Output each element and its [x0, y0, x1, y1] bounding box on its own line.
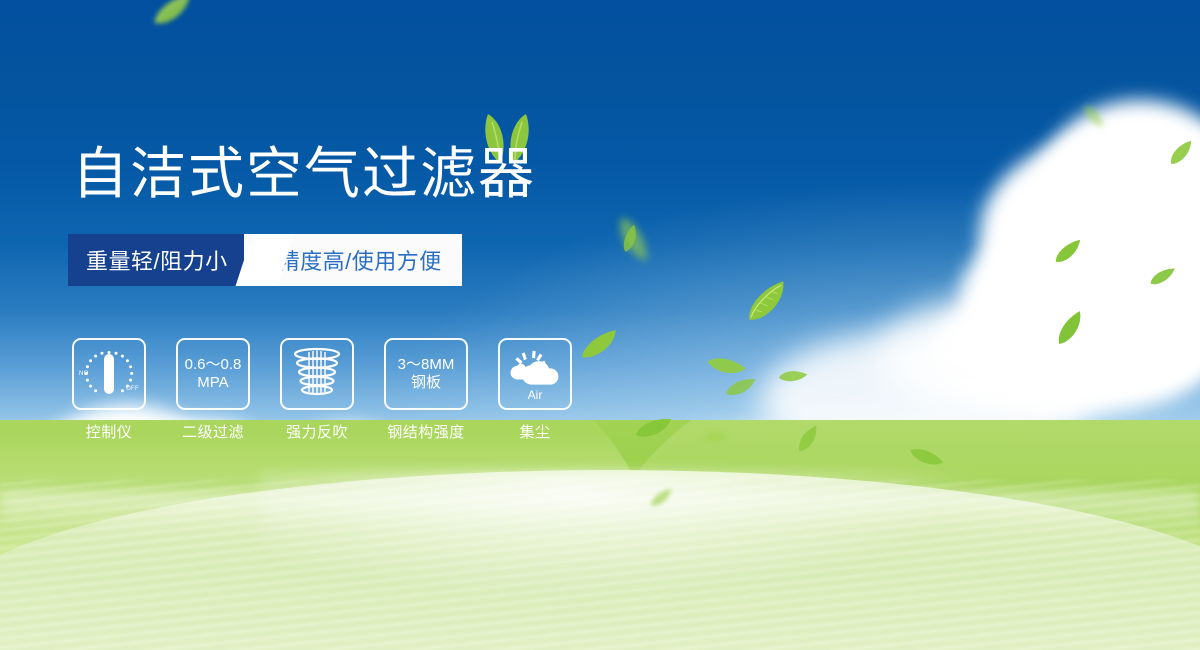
feature-icon-box: 0.6〜0.8 MPA: [176, 338, 250, 410]
gauge-label-on: NO: [79, 371, 89, 378]
subtitle-bar: 重量轻/阻力小 精度高/使用方便: [68, 234, 462, 286]
page-title: 自洁式空气过滤器: [72, 146, 536, 202]
spiral-filter-icon: [292, 347, 342, 401]
feature-item-controller[interactable]: NO OFF 控制仪: [72, 338, 146, 442]
feature-caption: 控制仪: [86, 421, 133, 442]
feature-icon-box: NO OFF: [72, 338, 146, 410]
feature-icon-box: 3〜8MM 钢板: [384, 338, 468, 410]
feature-icon-box: Air: [498, 338, 572, 410]
horizon-haze: [0, 492, 1200, 532]
feature-caption: 二级过滤: [182, 421, 244, 442]
gauge-icon: NO OFF: [80, 347, 138, 401]
feature-caption: 钢结构强度: [387, 421, 465, 442]
air-cloud-icon: Air: [506, 347, 564, 401]
feature-icon-line1: 0.6〜0.8: [185, 356, 242, 374]
feature-icon-box: [280, 338, 354, 410]
gauge-label-off: OFF: [126, 386, 139, 393]
feature-item-dust[interactable]: Air 集尘: [498, 338, 572, 442]
subtitle-left: 重量轻/阻力小: [68, 234, 244, 286]
feature-caption: 集尘: [519, 421, 550, 442]
feature-item-backblow[interactable]: 强力反吹: [280, 338, 354, 442]
gauge-needle: [104, 354, 114, 394]
air-cloud-label: Air: [506, 388, 564, 402]
feature-caption: 强力反吹: [286, 421, 348, 442]
feature-list: NO OFF 控制仪 0.6〜0.8 MPA 二级过滤: [72, 338, 602, 442]
grass-field: [0, 420, 1200, 650]
feature-item-pressure[interactable]: 0.6〜0.8 MPA 二级过滤: [176, 338, 250, 442]
feature-icon-line2: MPA: [197, 374, 228, 392]
feature-item-steel[interactable]: 3〜8MM 钢板 钢结构强度: [384, 338, 468, 442]
product-banner: 自洁式空气过滤器 重量轻/阻力小 精度高/使用方便: [0, 0, 1200, 650]
feature-icon-line2: 钢板: [411, 374, 441, 392]
feature-icon-line1: 3〜8MM: [398, 356, 455, 374]
leaf-icon: [777, 368, 808, 385]
